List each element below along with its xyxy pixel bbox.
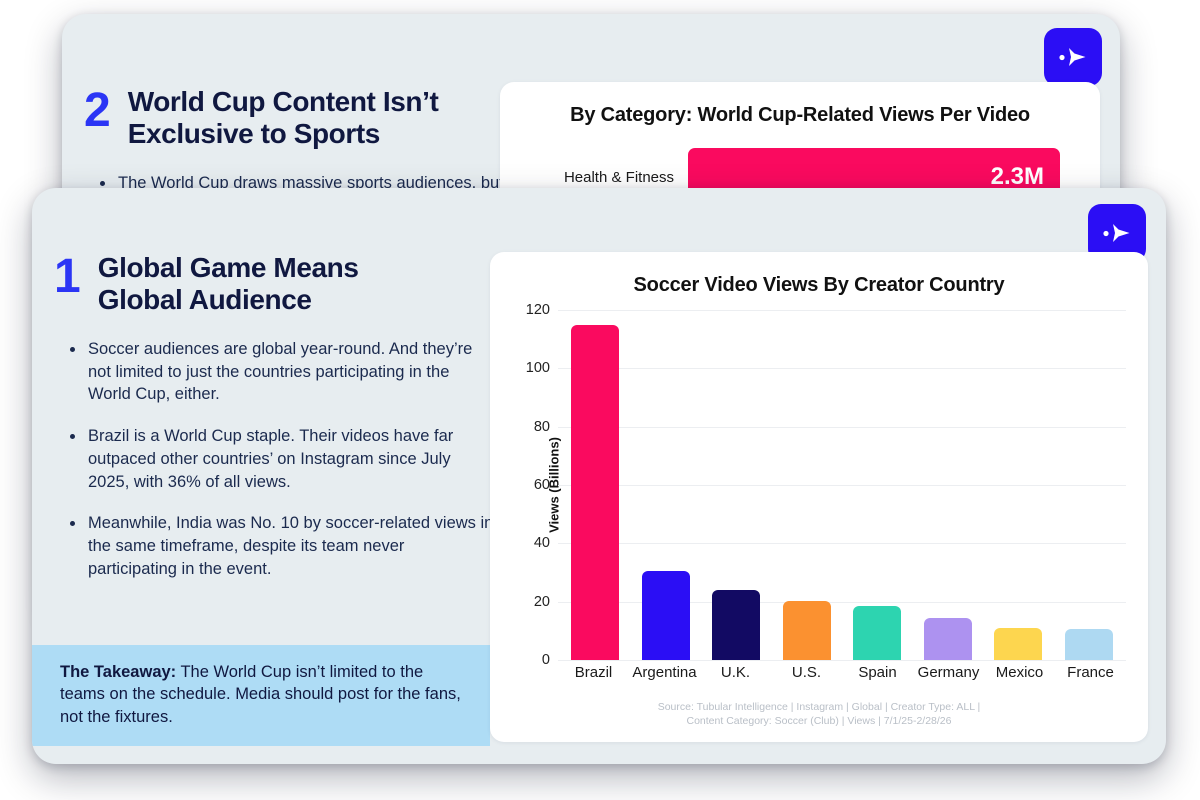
bar-slot-mexico (983, 310, 1054, 660)
bar-argentina[interactable] (642, 571, 690, 660)
card1-text-column: 1 Global Game Means Global Audience Socc… (54, 252, 494, 600)
bar-slot-germany (913, 310, 984, 660)
bar-slot-uk (701, 310, 772, 660)
card1-bullet-3: Meanwhile, India was No. 10 by soccer-re… (70, 512, 494, 580)
insight-card-1: 1 Global Game Means Global Audience Socc… (32, 188, 1166, 764)
card1-takeaway: The Takeaway: The World Cup isn’t limite… (32, 645, 490, 746)
chart-source-line-2: Content Category: Soccer (Club) | Views … (530, 714, 1108, 728)
bar-us[interactable] (783, 601, 831, 660)
card1-bullet-list: Soccer audiences are global year-round. … (54, 338, 494, 581)
y-tick-20: 20 (534, 594, 550, 610)
bar-germany[interactable] (924, 618, 972, 660)
chart-x-axis-labels: BrazilArgentinaU.K.U.S.SpainGermanyMexic… (558, 664, 1126, 681)
bar-slot-argentina (631, 310, 702, 660)
grid-line-0 (558, 660, 1126, 661)
card1-headline-line1: Global Game Means (98, 252, 359, 283)
card2-bar-category-label: Health & Fitness (500, 169, 688, 186)
card1-headline-line2: Global Audience (98, 284, 312, 315)
bar-uk[interactable] (712, 590, 760, 660)
bar-slot-us (772, 310, 843, 660)
bar-brazil[interactable] (571, 325, 619, 660)
x-label-uk: U.K. (700, 664, 771, 681)
slide-stage: 2 World Cup Content Isn’t Exclusive to S… (0, 0, 1200, 800)
y-tick-60: 60 (534, 477, 550, 493)
y-tick-80: 80 (534, 419, 550, 435)
card1-bullet-2: Brazil is a World Cup staple. Their vide… (70, 425, 494, 493)
bar-slot-france (1054, 310, 1125, 660)
chart-source-line-1: Source: Tubular Intelligence | Instagram… (530, 700, 1108, 714)
bar-slot-brazil (560, 310, 631, 660)
y-tick-120: 120 (526, 302, 550, 318)
x-label-france: France (1055, 664, 1126, 681)
card1-headline-row: 1 Global Game Means Global Audience (54, 252, 494, 316)
card1-bullet-1: Soccer audiences are global year-round. … (70, 338, 494, 406)
bar-mexico[interactable] (994, 628, 1042, 660)
card1-takeaway-label: The Takeaway: (60, 663, 176, 681)
x-label-brazil: Brazil (558, 664, 629, 681)
card2-chart-title: By Category: World Cup-Related Views Per… (500, 104, 1100, 127)
card1-chart-panel: Soccer Video Views By Creator Country Vi… (490, 252, 1148, 742)
card2-headline-row: 2 World Cup Content Isn’t Exclusive to S… (84, 86, 514, 150)
chart-source-note: Source: Tubular Intelligence | Instagram… (530, 700, 1108, 728)
bar-slot-spain (842, 310, 913, 660)
card2-bar-value: 2.3M (991, 163, 1044, 191)
bar-spain[interactable] (853, 606, 901, 660)
chart-title: Soccer Video Views By Creator Country (490, 274, 1148, 297)
card2-number: 2 (84, 88, 110, 134)
card2-headline: World Cup Content Isn’t Exclusive to Spo… (128, 86, 514, 150)
y-tick-100: 100 (526, 360, 550, 376)
chart-bars (558, 310, 1126, 660)
chart-plot-area: Views (Billions) 020406080100120 (558, 310, 1126, 660)
card1-headline: Global Game Means Global Audience (98, 252, 359, 316)
tubular-arrow-logo-icon (1044, 28, 1102, 86)
card1-number: 1 (54, 254, 80, 300)
bar-france[interactable] (1065, 629, 1113, 660)
x-label-spain: Spain (842, 664, 913, 681)
x-label-us: U.S. (771, 664, 842, 681)
x-label-argentina: Argentina (629, 664, 700, 681)
x-label-germany: Germany (913, 664, 984, 681)
y-tick-0: 0 (542, 652, 550, 668)
y-tick-40: 40 (534, 535, 550, 551)
x-label-mexico: Mexico (984, 664, 1055, 681)
